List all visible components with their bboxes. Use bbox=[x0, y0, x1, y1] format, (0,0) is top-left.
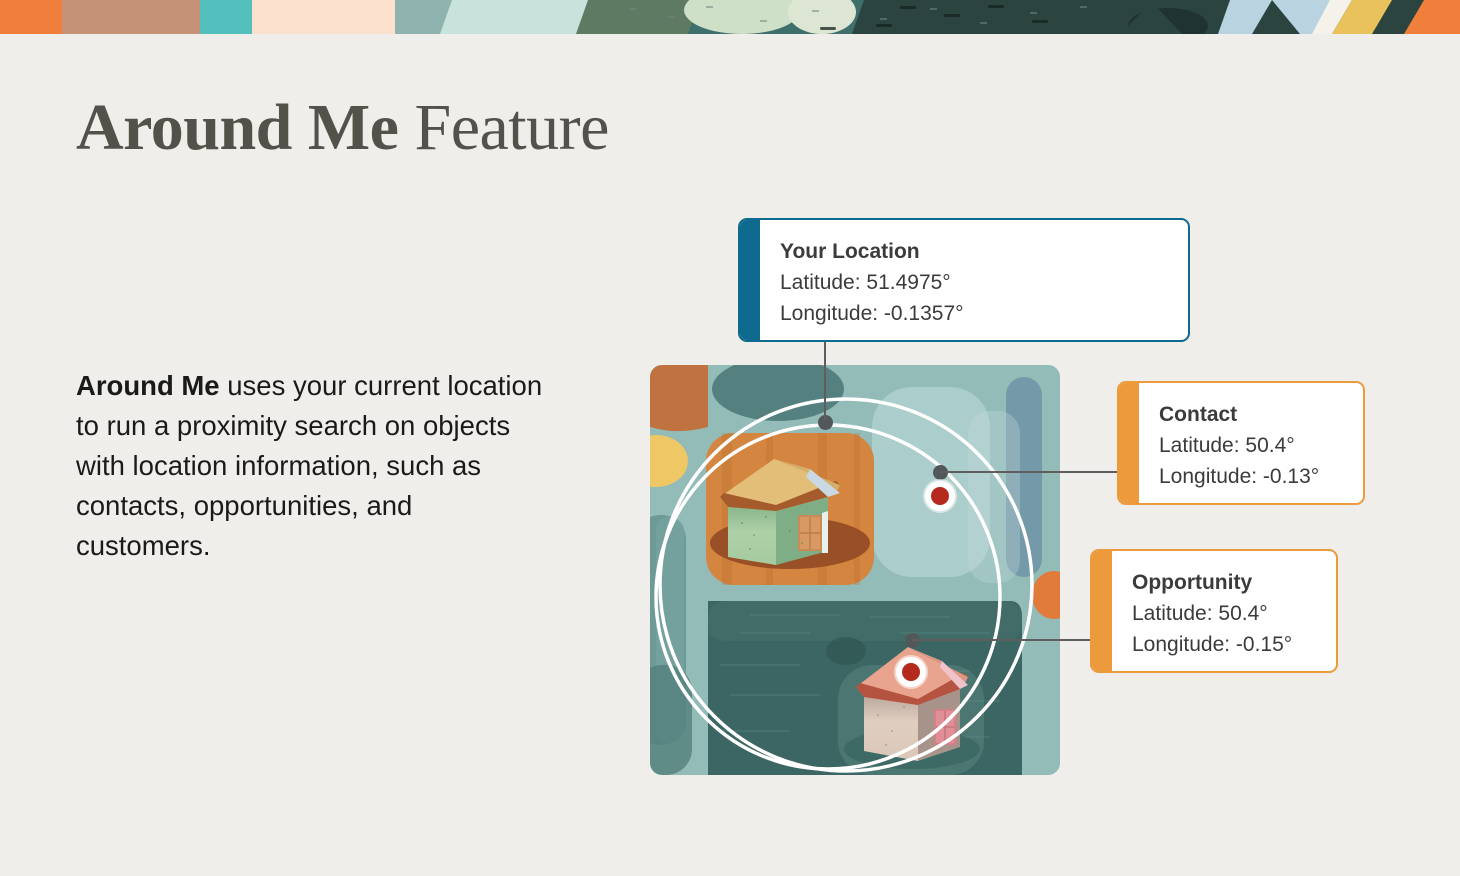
map-illustration bbox=[650, 365, 1060, 775]
page-title-light: Feature bbox=[398, 91, 608, 164]
connector-contact bbox=[940, 471, 1120, 473]
callout-latitude-contact: Latitude: 50.4° bbox=[1159, 430, 1341, 461]
map-pin-contact[interactable] bbox=[925, 481, 955, 511]
intro-lead: Around Me bbox=[76, 370, 220, 401]
callout-body-contact: Contact Latitude: 50.4° Longitude: -0.13… bbox=[1139, 383, 1363, 503]
callout-latitude-opportunity: Latitude: 50.4° bbox=[1132, 598, 1314, 629]
callout-accent-bar-opportunity bbox=[1092, 551, 1112, 671]
callout-card-contact[interactable]: Contact Latitude: 50.4° Longitude: -0.13… bbox=[1117, 381, 1365, 505]
intro-paragraph: Around Me uses your current location to … bbox=[76, 366, 546, 566]
callout-title-contact: Contact bbox=[1159, 400, 1341, 430]
callout-title-your-location: Your Location bbox=[780, 237, 1166, 267]
callout-longitude-opportunity: Longitude: -0.15° bbox=[1132, 629, 1314, 660]
banner-artwork bbox=[0, 0, 1460, 34]
callout-accent-bar-contact bbox=[1119, 383, 1139, 503]
callout-card-opportunity[interactable]: Opportunity Latitude: 50.4° Longitude: -… bbox=[1090, 549, 1338, 673]
callout-title-opportunity: Opportunity bbox=[1132, 568, 1314, 598]
decorative-top-banner bbox=[0, 0, 1460, 34]
callout-card-your-location[interactable]: Your Location Latitude: 51.4975° Longitu… bbox=[738, 218, 1190, 342]
map-canvas bbox=[650, 365, 1060, 775]
callout-longitude-your-location: Longitude: -0.1357° bbox=[780, 298, 1166, 329]
page-title: Around Me Feature bbox=[76, 86, 609, 170]
callout-body-your-location: Your Location Latitude: 51.4975° Longitu… bbox=[760, 220, 1188, 340]
callout-body-opportunity: Opportunity Latitude: 50.4° Longitude: -… bbox=[1112, 551, 1336, 671]
callout-longitude-contact: Longitude: -0.13° bbox=[1159, 461, 1341, 492]
map-pin-opportunity[interactable] bbox=[896, 657, 926, 687]
callout-accent-bar-your-location bbox=[740, 220, 760, 340]
page-title-strong: Around Me bbox=[76, 91, 398, 164]
connector-your-location bbox=[824, 342, 826, 420]
connector-opportunity bbox=[912, 639, 1092, 641]
callout-latitude-your-location: Latitude: 51.4975° bbox=[780, 267, 1166, 298]
map-artwork bbox=[650, 365, 1060, 775]
